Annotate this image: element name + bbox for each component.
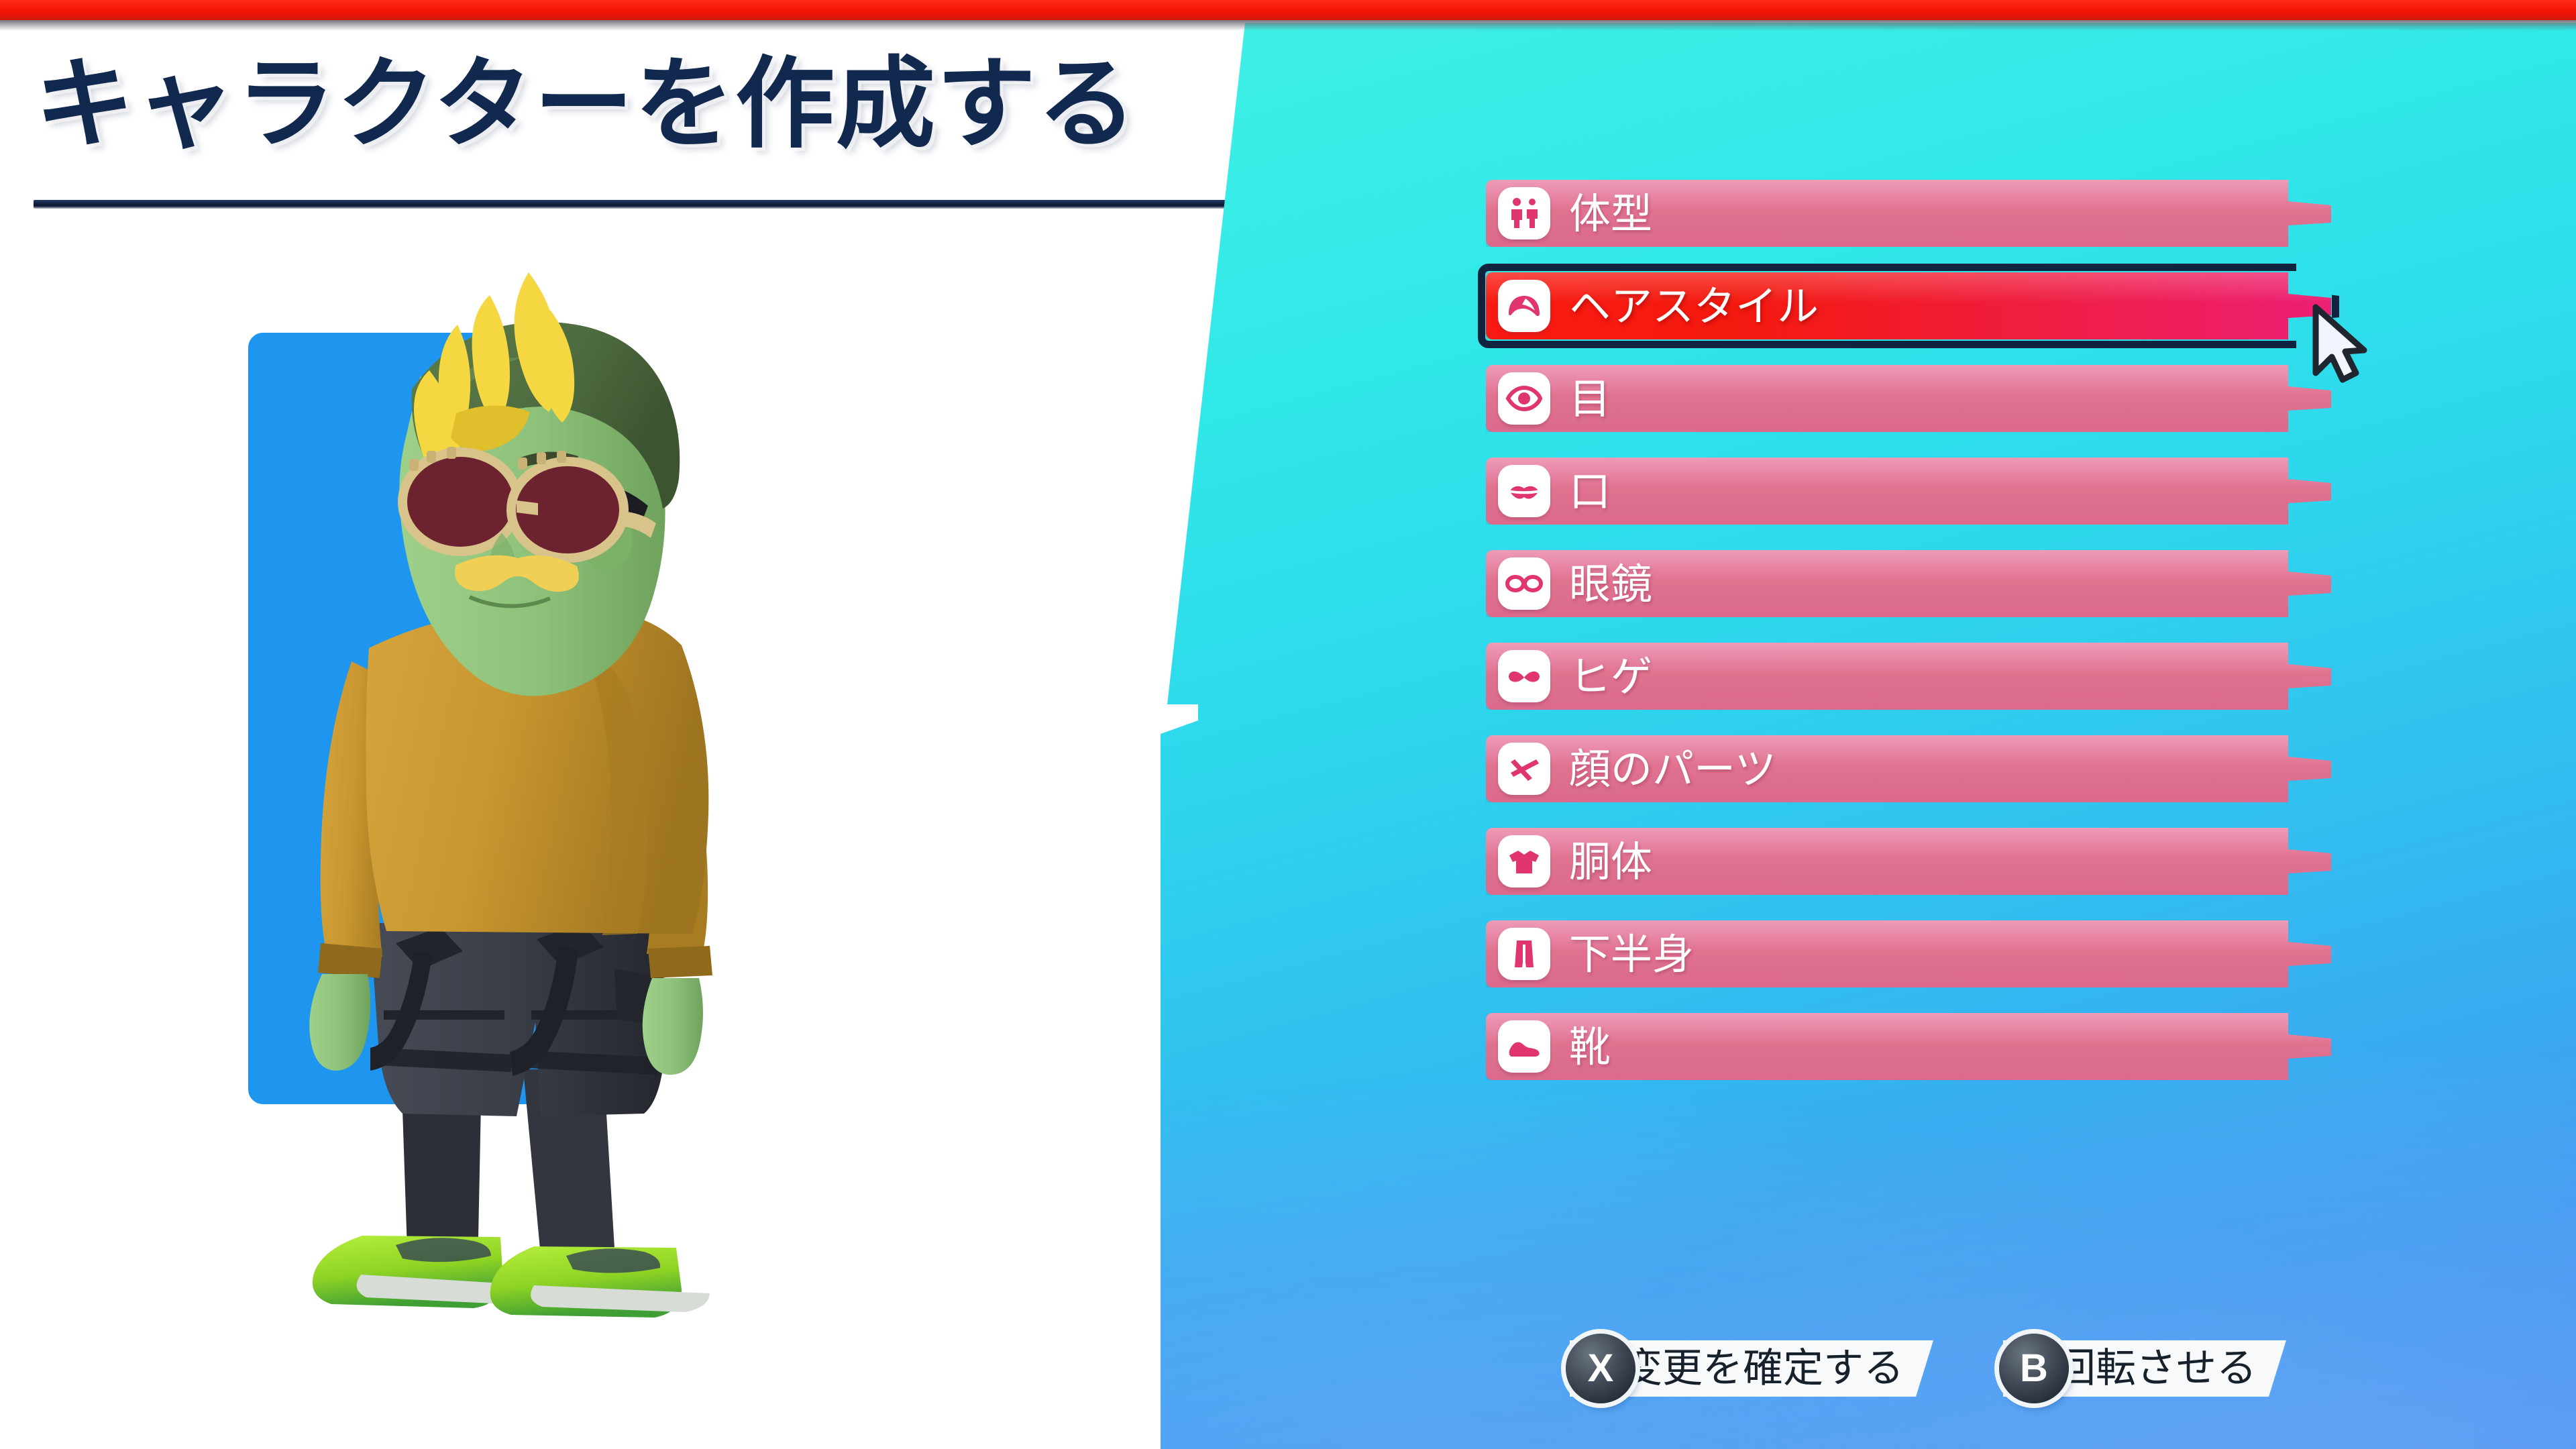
character-preview-panel: キャラクターを作成する xyxy=(0,24,1261,1449)
menu-item-background xyxy=(1486,458,2331,525)
button-hints: 変更を確定するX回転させるB xyxy=(1570,1332,2286,1405)
page-title: キャラクターを作成する xyxy=(35,44,1216,165)
menu-item-background xyxy=(1486,1013,2331,1080)
menu-item-label: 目 xyxy=(1569,371,1611,429)
gamepad-button-b-icon: B xyxy=(1999,1334,2069,1403)
pants-icon xyxy=(1498,928,1550,980)
title-underline xyxy=(34,200,1234,209)
menu-item-3[interactable]: 口 xyxy=(1486,458,2331,525)
menu-item-label: 下半身 xyxy=(1569,926,1694,984)
top-bar-shadow xyxy=(0,20,2576,31)
shirt-icon xyxy=(1498,835,1550,888)
menu-item-6[interactable]: 顔のパーツ xyxy=(1486,735,2331,802)
gamepad-button-letter: B xyxy=(2020,1349,2048,1388)
hairstyle-icon xyxy=(1498,280,1550,332)
menu-item-label: 口 xyxy=(1569,464,1611,521)
gamepad-button-letter: X xyxy=(1588,1349,1614,1388)
eye-icon xyxy=(1498,372,1550,425)
mouth-icon xyxy=(1498,465,1550,517)
menu-item-label: 体型 xyxy=(1569,186,1652,244)
menu-item-label: 靴 xyxy=(1569,1019,1611,1077)
button-hint-x[interactable]: 変更を確定するX xyxy=(1570,1340,1933,1397)
menu-item-5[interactable]: ヒゲ xyxy=(1486,643,2331,710)
body-type-icon xyxy=(1498,187,1550,239)
menu-item-background xyxy=(1486,365,2331,432)
avatar-model[interactable] xyxy=(80,246,953,1446)
menu-item-7[interactable]: 胴体 xyxy=(1486,828,2331,895)
menu-item-8[interactable]: 下半身 xyxy=(1486,920,2331,987)
button-hint-b[interactable]: 回転させるB xyxy=(2003,1340,2286,1397)
mustache-icon xyxy=(1498,650,1550,702)
customization-menu[interactable]: 体型ヘアスタイル目口眼鏡ヒゲ顔のパーツ胴体下半身靴 xyxy=(1486,180,2331,1106)
menu-item-label: 顔のパーツ xyxy=(1569,741,1776,799)
gamepad-button-x-icon: X xyxy=(1566,1334,1635,1403)
shoe-icon xyxy=(1498,1020,1550,1073)
top-red-bar xyxy=(0,0,2576,20)
menu-item-label: 眼鏡 xyxy=(1569,556,1652,614)
menu-item-0[interactable]: 体型 xyxy=(1486,180,2331,247)
menu-item-2[interactable]: 目 xyxy=(1486,365,2331,432)
menu-item-4[interactable]: 眼鏡 xyxy=(1486,550,2331,617)
hint-label: 変更を確定する xyxy=(1622,1340,1904,1397)
menu-item-label: 胴体 xyxy=(1569,834,1652,892)
avatar-shoe-right xyxy=(490,1246,710,1318)
menu-item-label: ヒゲ xyxy=(1569,649,1652,706)
screen-root: キャラクターを作成する xyxy=(0,0,2576,1449)
menu-item-9[interactable]: 靴 xyxy=(1486,1013,2331,1080)
avatar-stage[interactable] xyxy=(80,246,953,1446)
menu-item-label: ヘアスタイル xyxy=(1569,278,1819,336)
mouse-cursor xyxy=(2309,303,2368,384)
hint-label: 回転させる xyxy=(2055,1340,2257,1397)
menu-item-1[interactable]: ヘアスタイル xyxy=(1486,272,2331,339)
face-parts-icon xyxy=(1498,743,1550,795)
glasses-icon xyxy=(1498,557,1550,610)
